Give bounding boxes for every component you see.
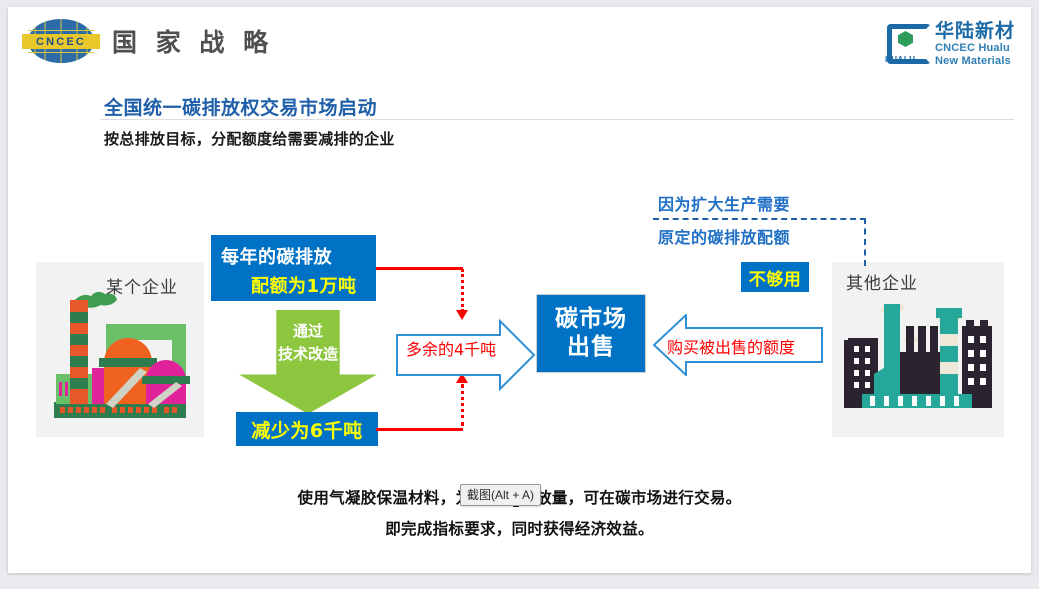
carbon-market-box: 碳市场 出售: [536, 294, 646, 373]
slide-canvas: CNCEC 国 家 战 略 HUALU 华陆新材 CNCEC Hualu New…: [8, 7, 1031, 573]
expansion-note-line1: 因为扩大生产需要: [658, 191, 790, 215]
carbon-market-line2: 出售: [567, 334, 615, 361]
expansion-note-line2: 原定的碳排放配额: [658, 224, 790, 248]
footer-line-2: 即完成指标要求，同时获得经济效益。: [8, 517, 1031, 539]
hualu-name-en1: CNCEC Hualu: [935, 42, 1015, 54]
tech-upgrade-line1: 通过: [239, 320, 377, 343]
title-divider: [100, 119, 1014, 120]
factory-left-label: 某个企业: [106, 273, 178, 298]
annual-quota-box: 每年的碳排放 配额为1万吨: [211, 235, 376, 301]
red-dotted-line-top: [461, 269, 464, 312]
header-right-brand: HUALU 华陆新材 CNCEC Hualu New Materials: [885, 21, 1015, 67]
blue-dashed-line-horizontal: [653, 218, 866, 220]
cncec-logo-text: CNCEC: [22, 34, 100, 49]
not-enough-label: 不够用: [749, 265, 802, 290]
page-subtitle: 按总排放目标，分配额度给需要减排的企业: [104, 128, 395, 149]
footer-line1-part1: 使用气凝胶保温材料，为: [298, 489, 472, 507]
reduced-emission-label: 减少为6千吨: [251, 416, 362, 443]
header-slogan: 国 家 战 略: [112, 23, 273, 59]
not-enough-box: 不够用: [741, 262, 809, 292]
hualu-mark-text: HUALU: [885, 55, 916, 64]
annual-quota-line1: 每年的碳排放: [221, 243, 332, 269]
red-connector-top: [376, 267, 463, 270]
carbon-market-line1: 碳市场: [555, 306, 627, 333]
tech-upgrade-line2: 技术改造: [239, 343, 377, 366]
hualu-logo-icon: HUALU: [885, 24, 927, 64]
page-title: 全国统一碳排放权交易市场启动: [104, 93, 377, 120]
screenshot-shortcut-tooltip: 截图(Alt + A): [460, 484, 541, 506]
cncec-globe-icon: CNCEC: [22, 19, 100, 63]
hualu-logo-text: 华陆新材 CNCEC Hualu New Materials: [935, 21, 1015, 67]
tech-upgrade-arrow: 通过 技术改造: [239, 310, 377, 414]
hualu-name-cn: 华陆新材: [935, 21, 1015, 42]
blue-dashed-line-vertical: [864, 218, 866, 266]
header-left-brand: CNCEC 国 家 战 略: [22, 19, 273, 63]
purchase-arrow-label: 购买被出售的额度: [667, 334, 795, 358]
factory-right-label: 其他企业: [846, 269, 918, 294]
reduced-emission-box: 减少为6千吨: [236, 412, 378, 446]
annual-quota-line2: 配额为1万吨: [251, 272, 357, 298]
hualu-name-en2: New Materials: [935, 55, 1015, 67]
footer-line1-part3: 排放量，可在碳市场进行交易。: [520, 489, 741, 507]
red-connector-bottom: [376, 428, 463, 431]
surplus-arrow-label: 多余的4千吨: [406, 336, 496, 360]
